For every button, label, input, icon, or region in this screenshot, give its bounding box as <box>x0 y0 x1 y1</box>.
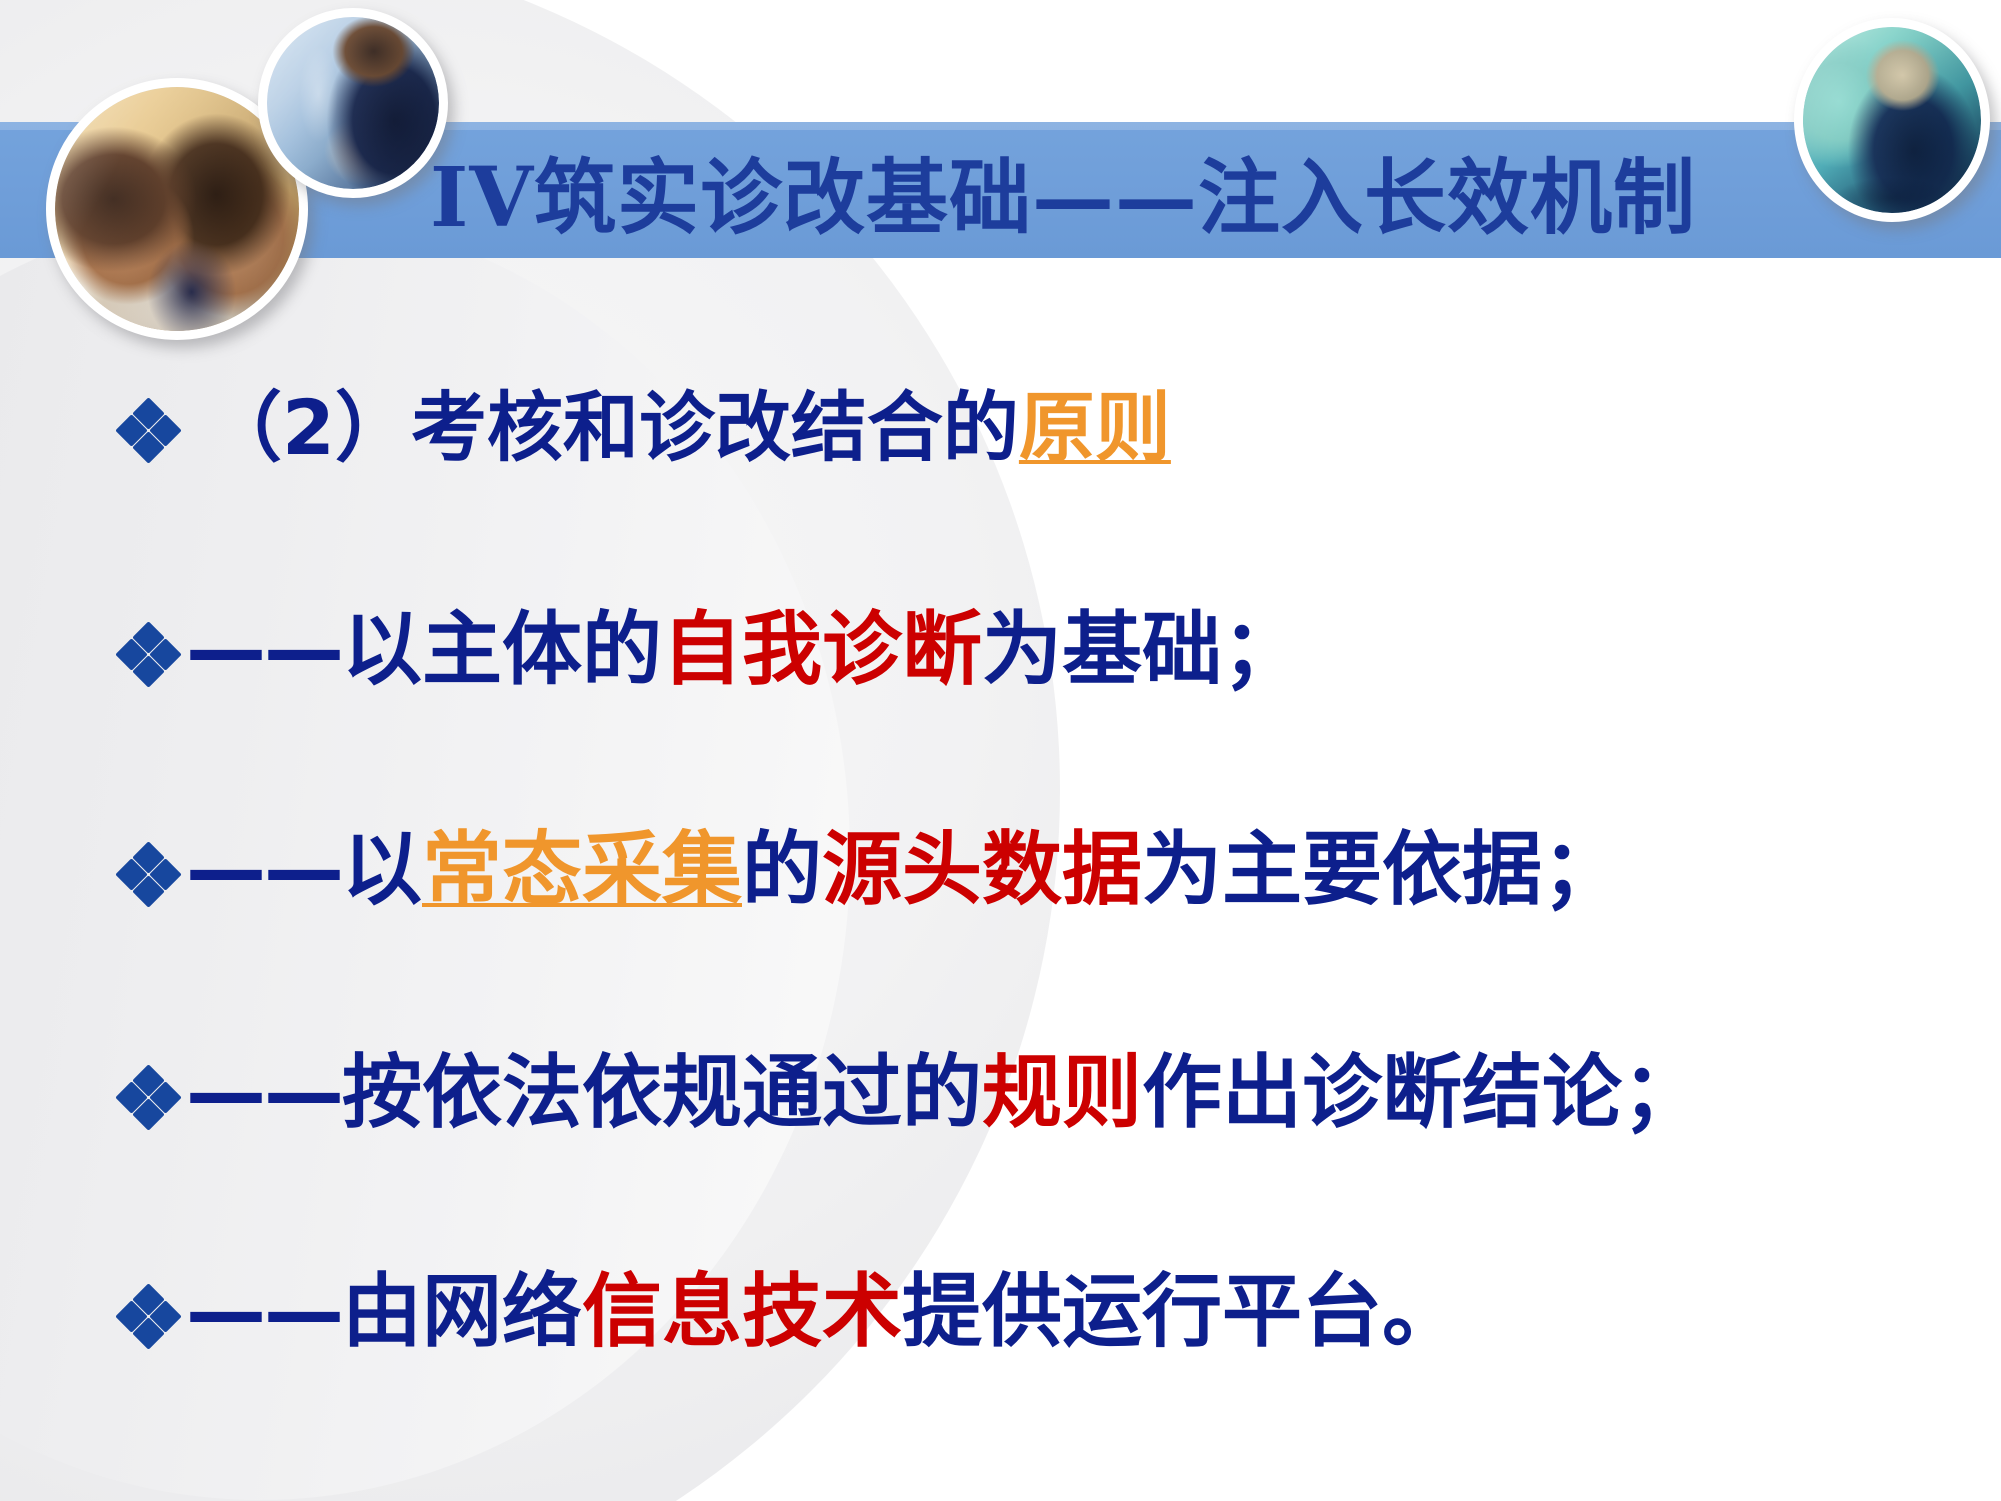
text-run-blue: 按依法依规通过的 <box>342 1046 982 1139</box>
slide-title: IV筑实诊改基础——注入长效机制 <box>430 128 1850 252</box>
text-run-dash: —— <box>186 823 342 916</box>
businessmen-handshake-photo <box>258 8 448 198</box>
diamond-cluster-bullet-icon <box>118 622 180 684</box>
text-run-orange: 原则 <box>1019 383 1171 472</box>
text-run-blue: 作出诊断结论； <box>1142 1046 1702 1139</box>
text-run-blue: （2）考核和诊改结合的 <box>206 383 1019 472</box>
diamond-cluster-bullet-icon <box>118 842 180 904</box>
diamond-cluster-bullet-icon <box>118 1065 180 1127</box>
bullet-self-diagnosis: ——以主体的自我诊断为基础； <box>118 610 1302 690</box>
bullet-text: ——以主体的自我诊断为基础； <box>186 610 1302 690</box>
text-run-dash: —— <box>186 1046 342 1139</box>
diamond-cluster-bullet-icon <box>118 1284 180 1346</box>
text-run-blue: 为基础； <box>982 603 1302 696</box>
text-run-red: 自我诊断 <box>662 603 982 696</box>
text-run-blue: 提供运行平台。 <box>902 1265 1462 1358</box>
bullet-network-platform: ——由网络信息技术提供运行平台。 <box>118 1272 1462 1352</box>
text-run-blue: 由网络 <box>342 1265 582 1358</box>
text-run-red: 规则 <box>982 1046 1142 1139</box>
bullet-principle-heading: （2）考核和诊改结合的原则 <box>118 390 1171 466</box>
text-run-blue: 以主体的 <box>342 603 662 696</box>
bullet-text: ——以常态采集的源头数据为主要依据； <box>186 830 1622 910</box>
text-run-dash: —— <box>186 1265 342 1358</box>
text-run-blue: 以 <box>342 823 422 916</box>
text-run-red: 源头数据 <box>822 823 1142 916</box>
bullet-text: ——按依法依规通过的规则作出诊断结论； <box>186 1053 1702 1133</box>
bullet-rules-conclusion: ——按依法依规通过的规则作出诊断结论； <box>118 1053 1702 1133</box>
bullet-text: ——由网络信息技术提供运行平台。 <box>186 1272 1462 1352</box>
presentation-slide: IV筑实诊改基础——注入长效机制 （2）考核和诊改结合的原则 ——以主体的自我诊… <box>0 0 2001 1501</box>
text-run-blue: 为主要依据； <box>1142 823 1622 916</box>
text-run-dash: —— <box>186 603 342 696</box>
bullet-text: （2）考核和诊改结合的原则 <box>206 390 1171 466</box>
bullet-source-data: ——以常态采集的源头数据为主要依据； <box>118 830 1622 910</box>
text-run-blue: 的 <box>742 823 822 916</box>
diamond-cluster-bullet-icon <box>118 398 180 460</box>
text-run-orange: 常态采集 <box>422 823 742 916</box>
text-run-red: 信息技术 <box>582 1265 902 1358</box>
